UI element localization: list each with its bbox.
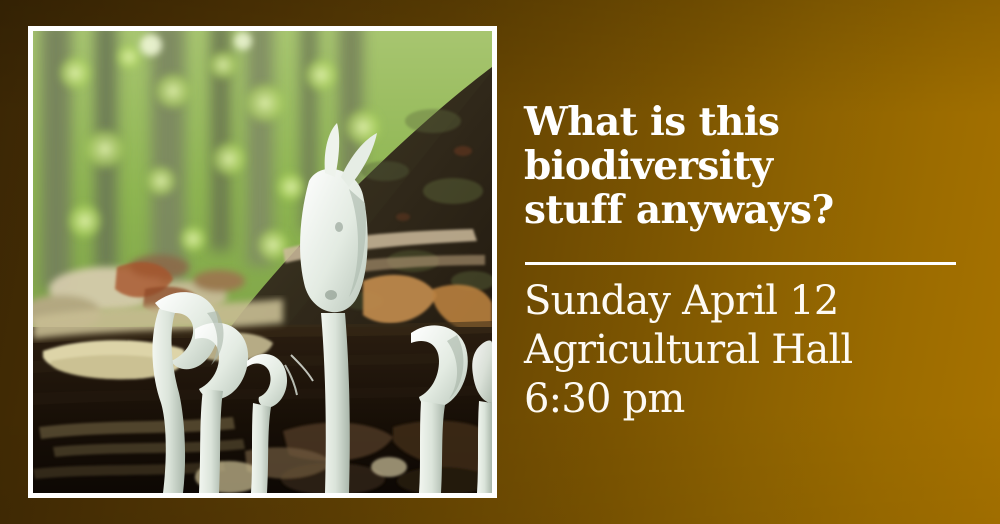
- photo-frame: [28, 26, 497, 498]
- event-poster: What is this biodiversity stuff anyways?…: [0, 0, 1000, 524]
- forest-photo: [33, 31, 492, 493]
- forest-photo-illustration: [33, 31, 492, 493]
- divider: [525, 262, 956, 265]
- event-details: Sunday April 12 Agricultural Hall 6:30 p…: [524, 277, 954, 424]
- text-panel: What is this biodiversity stuff anyways?…: [524, 0, 964, 524]
- page-title: What is this biodiversity stuff anyways?: [524, 100, 954, 232]
